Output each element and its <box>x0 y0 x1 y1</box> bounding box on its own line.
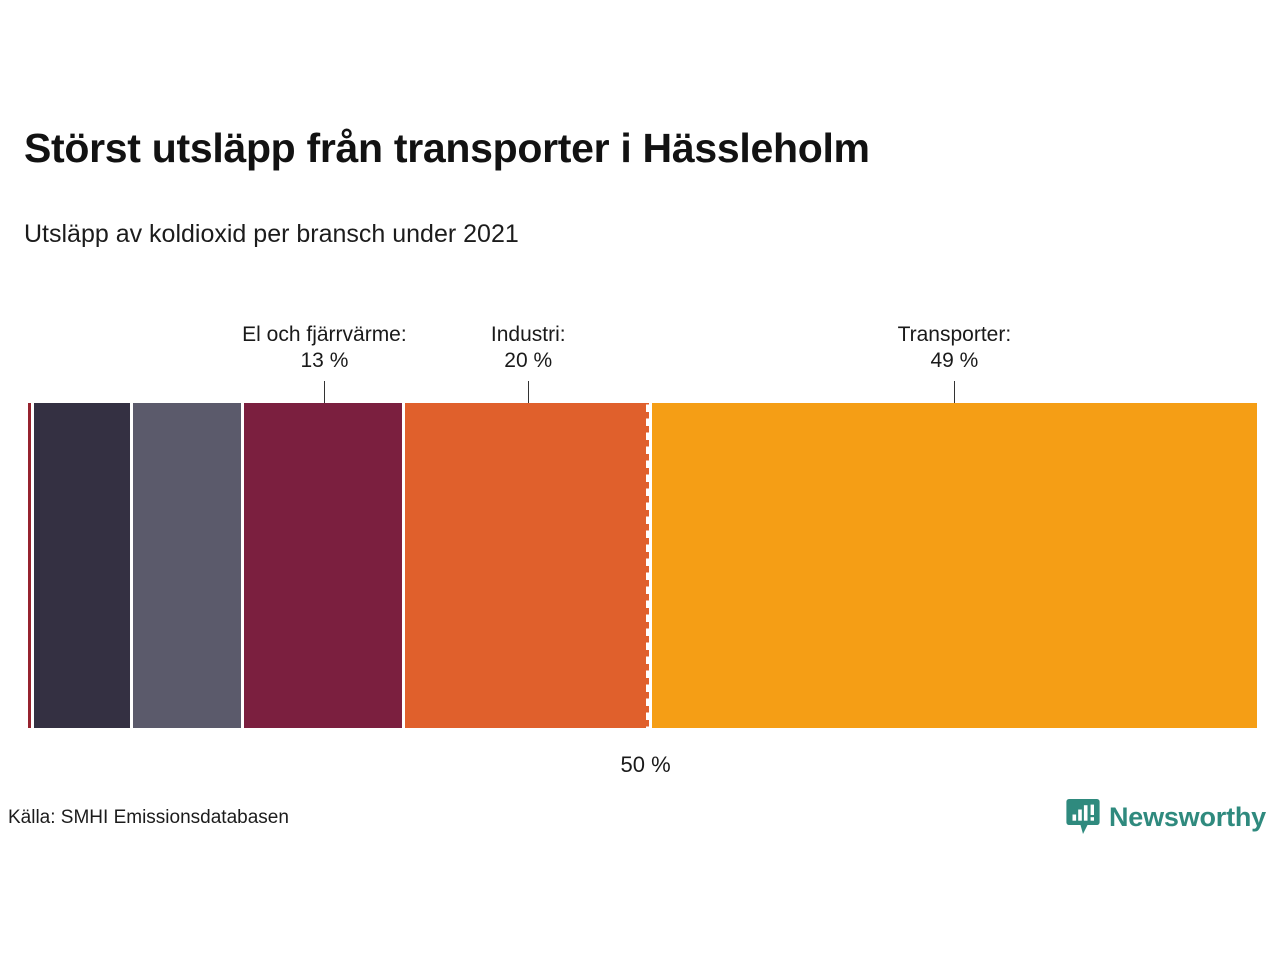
bar-segment-egen-uppv-rmning[interactable] <box>133 403 244 728</box>
annotation-tick-el-och-fj-rrv-rme <box>324 381 325 403</box>
bar-segment-industri[interactable] <box>405 403 652 728</box>
annotation-tick-industri <box>528 381 529 403</box>
brand-wordmark: Newsworthy <box>1109 802 1266 833</box>
stacked-bar-chart <box>28 403 1257 728</box>
newsworthy-logo[interactable]: Newsworthy <box>1066 798 1266 836</box>
page-title: Störst utsläpp från transporter i Hässle… <box>24 126 1224 171</box>
chart-canvas: Störst utsläpp från transporter i Hässle… <box>0 0 1280 960</box>
annotation-industri: Industri:20 % <box>328 322 728 375</box>
annotation-value-industri: 20 % <box>328 348 728 374</box>
annotation-value-transporter: 49 % <box>754 348 1154 374</box>
axis-tick-label-50: 50 % <box>621 752 671 778</box>
bar-chart-speech-bubble-icon <box>1066 798 1100 836</box>
annotation-transporter: Transporter:49 % <box>754 322 1154 375</box>
bar-segment-el-och-fj-rrv-rme[interactable] <box>244 403 405 728</box>
annotation-label-industri: Industri: <box>328 322 728 348</box>
bar-segment-transporter[interactable] <box>652 403 1257 728</box>
bar-segment-arbetsmaskiner[interactable] <box>34 403 133 728</box>
source-note: Källa: SMHI Emissionsdatabasen <box>8 807 289 829</box>
annotation-tick-transporter <box>954 381 955 403</box>
annotation-label-transporter: Transporter: <box>754 322 1154 348</box>
chart-subtitle: Utsläpp av koldioxid per bransch under 2… <box>24 219 1224 249</box>
midline-50-percent-marker <box>646 403 649 728</box>
